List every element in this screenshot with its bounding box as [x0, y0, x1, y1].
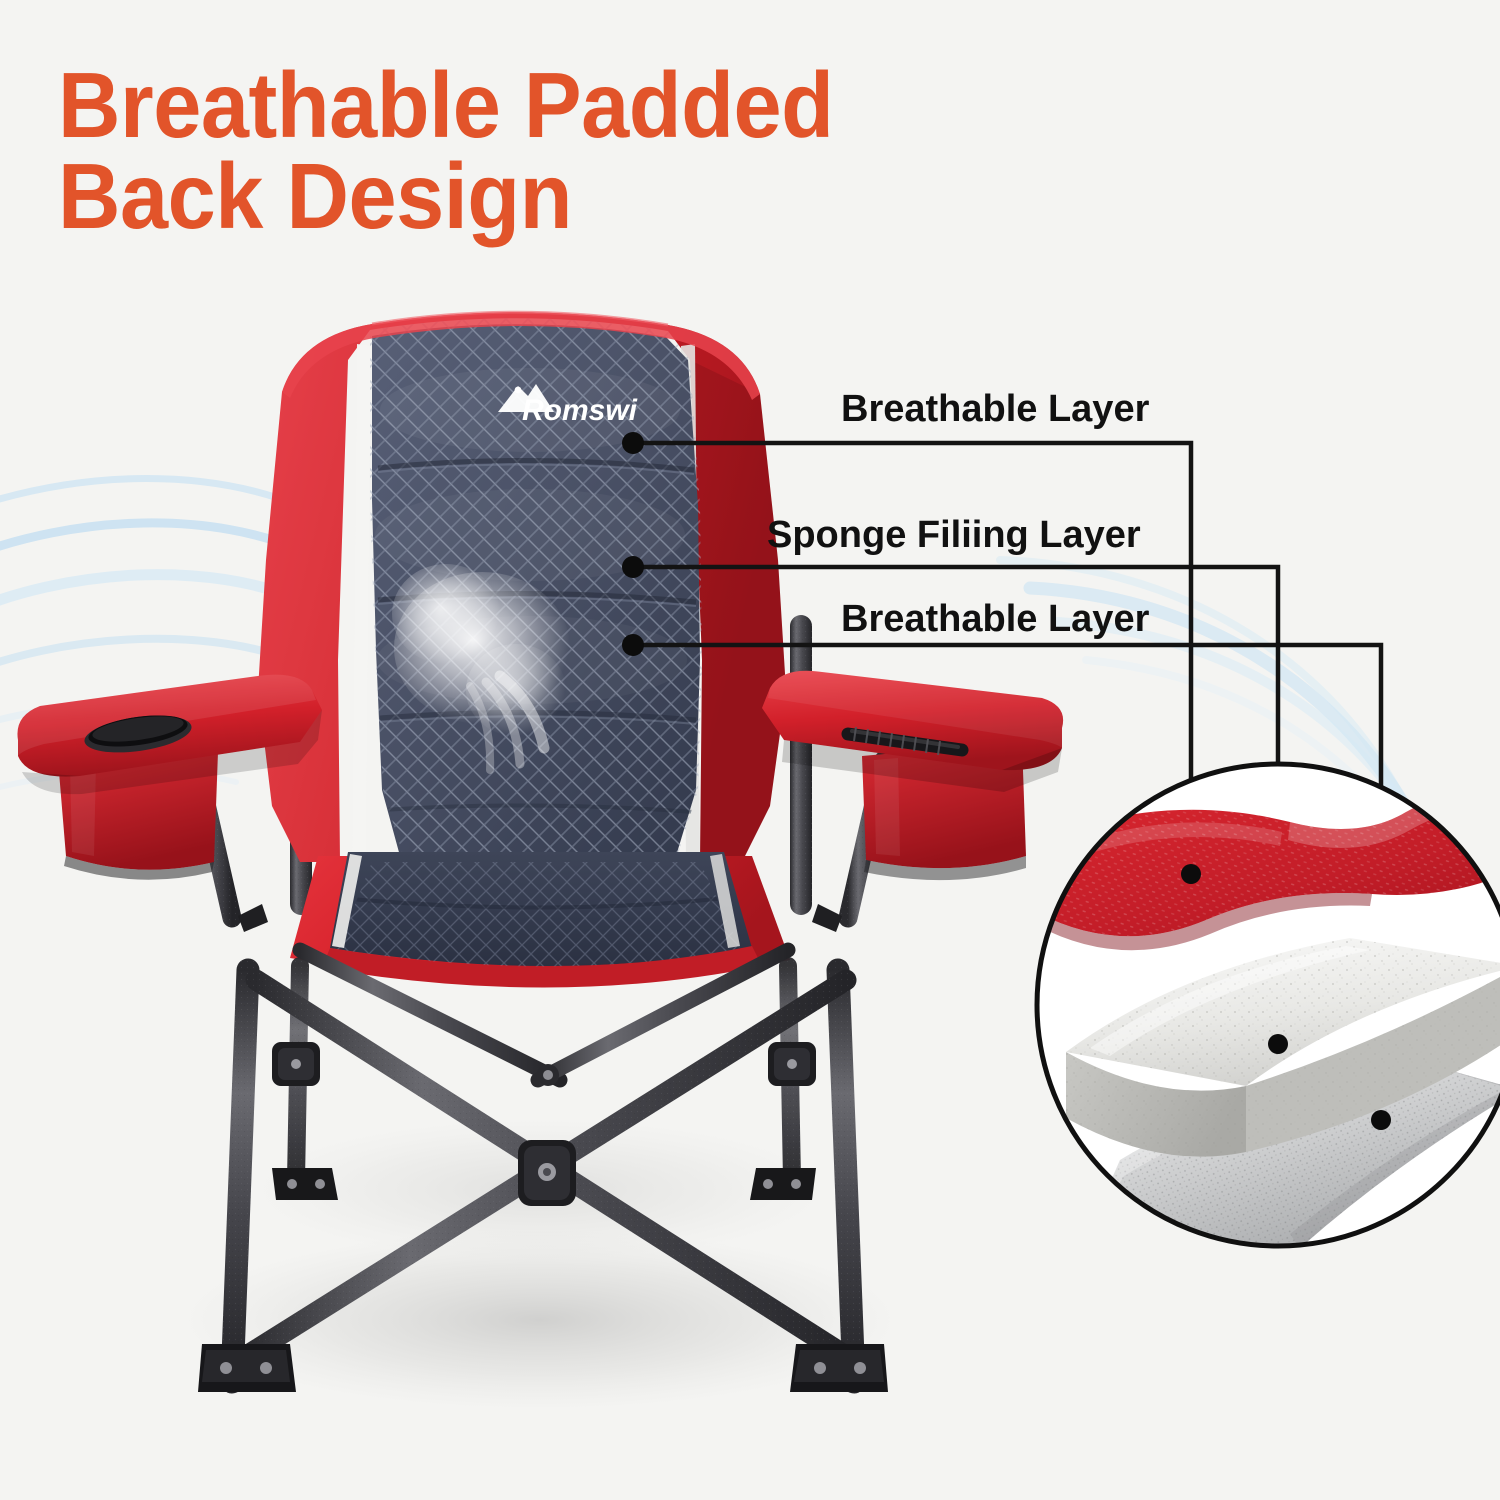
anchor-dot-3: [622, 634, 644, 656]
material-layers-detail: [1036, 764, 1500, 1248]
anchor-dot-2: [622, 556, 644, 578]
anchor-dot-1: [622, 432, 644, 454]
foot-front-left: [198, 1344, 296, 1392]
page-title: Breathable Padded Back Design: [58, 60, 1100, 242]
foot-bracket-rear-left: [272, 1168, 338, 1200]
callout-label-breathable-top: Breathable Layer: [841, 390, 1149, 428]
infographic-canvas: Romswi: [0, 0, 1500, 1500]
foot-bracket-rear-right: [750, 1168, 816, 1200]
detail-dot-sponge: [1268, 1034, 1288, 1054]
leg-clamp-right: [768, 1042, 816, 1086]
center-pivot-hub: [518, 1140, 576, 1206]
detail-dot-breathable-top: [1181, 864, 1201, 884]
svg-text:Romswi: Romswi: [522, 394, 638, 427]
detail-dot-breathable-back: [1371, 1110, 1391, 1130]
callout-label-sponge-filling: Sponge Filiing Layer: [767, 516, 1141, 554]
leg-clamp-left: [272, 1042, 320, 1086]
chair-backrest: Romswi: [258, 310, 786, 870]
callout-label-breathable-back: Breathable Layer: [841, 600, 1149, 638]
foot-front-right: [790, 1344, 888, 1392]
